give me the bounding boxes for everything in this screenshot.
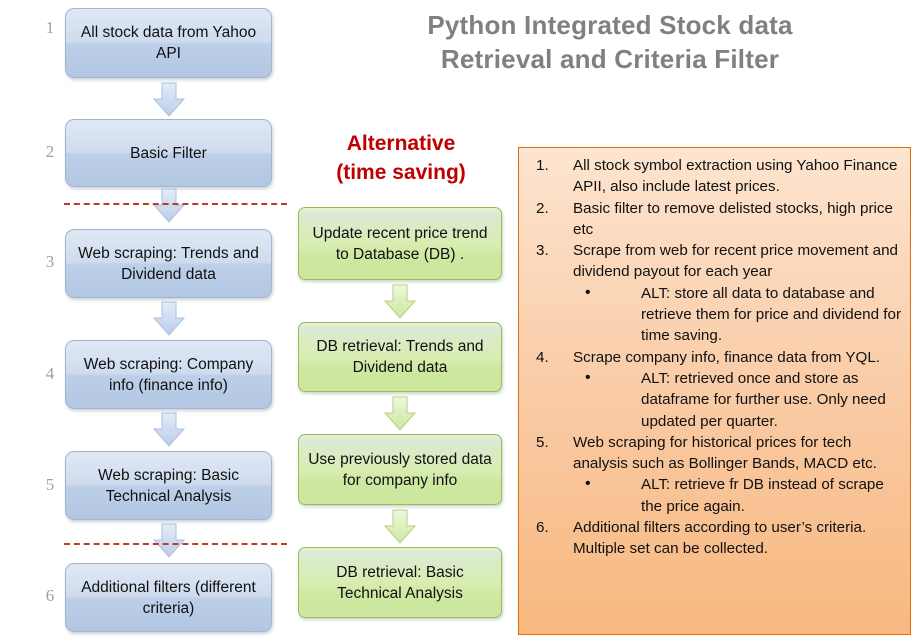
flow-box-label: Web scraping: Basic Technical Analysis: [72, 465, 265, 507]
down-arrow-icon: [383, 284, 417, 320]
note-sub-item: •ALT: retrieve fr DB instead of scrape t…: [573, 474, 902, 517]
note-item: 5.Web scraping for historical prices for…: [527, 432, 902, 517]
down-arrow-icon: [383, 396, 417, 432]
page-title-line-2: Retrieval and Criteria Filter: [330, 42, 890, 76]
alt-box-update-recent-price[interactable]: Update recent price trend to Database (D…: [298, 207, 502, 280]
note-item-number: 4.: [536, 347, 558, 368]
note-item-number: 5.: [536, 432, 558, 453]
flow-box-basic-filter[interactable]: Basic Filter: [65, 119, 272, 187]
notes-panel: 1.All stock symbol extraction using Yaho…: [518, 147, 911, 635]
alt-box-use-previously-stored-data[interactable]: Use previously stored data for company i…: [298, 434, 502, 505]
flow-box-label: Web scraping: Trends and Dividend data: [72, 243, 265, 285]
bullet-icon: •: [585, 282, 591, 303]
down-arrow-icon: [383, 509, 417, 545]
page-title-line-1: Python Integrated Stock data: [330, 8, 890, 42]
note-sub-item-text: ALT: retrieved once and store as datafra…: [641, 370, 886, 430]
flow-box-web-scraping-trends[interactable]: Web scraping: Trends and Dividend data: [65, 229, 272, 298]
bullet-icon: •: [585, 367, 591, 388]
bullet-icon: •: [585, 473, 591, 494]
note-item-text: All stock symbol extraction using Yahoo …: [573, 157, 897, 195]
down-arrow-icon: [152, 412, 186, 448]
down-arrow-icon: [152, 188, 186, 224]
flow-box-label: Basic Filter: [130, 143, 207, 164]
note-item: 3.Scrape from web for recent price movem…: [527, 240, 902, 346]
note-item: 1.All stock symbol extraction using Yaho…: [527, 155, 902, 198]
flow-box-label: Web scraping: Company info (finance info…: [72, 354, 265, 396]
note-item-text: Scrape from web for recent price movemen…: [573, 242, 898, 280]
note-item-text: Web scraping for historical prices for t…: [573, 434, 877, 472]
section-divider-top: [64, 203, 287, 205]
note-item: 4.Scrape company info, finance data from…: [527, 347, 902, 432]
flow-box-label: Additional filters (different criteria): [72, 577, 265, 619]
note-item-text: Basic filter to remove delisted stocks, …: [573, 200, 893, 238]
step-number-6: 6: [40, 586, 60, 606]
alt-box-label: Update recent price trend to Database (D…: [307, 223, 493, 265]
note-sub-item-text: ALT: retrieve fr DB instead of scrape th…: [641, 476, 884, 514]
note-item-number: 6.: [536, 517, 558, 538]
step-number-3: 3: [40, 252, 60, 272]
alternative-header: Alternative (time saving): [298, 129, 504, 187]
note-sub-list: •ALT: store all data to database and ret…: [573, 283, 902, 347]
alternative-header-line-1: Alternative: [298, 129, 504, 158]
note-sub-item-text: ALT: store all data to database and retr…: [641, 285, 901, 345]
note-sub-list: •ALT: retrieved once and store as datafr…: [573, 368, 902, 432]
flow-box-additional-filters[interactable]: Additional filters (different criteria): [65, 563, 272, 632]
step-number-4: 4: [40, 364, 60, 384]
down-arrow-icon: [152, 523, 186, 559]
down-arrow-icon: [152, 82, 186, 118]
note-item-number: 3.: [536, 240, 558, 261]
step-number-2: 2: [40, 142, 60, 162]
note-item-number: 2.: [536, 198, 558, 219]
down-arrow-icon: [152, 301, 186, 337]
note-sub-list: •ALT: retrieve fr DB instead of scrape t…: [573, 474, 902, 517]
flow-box-all-stock-data[interactable]: All stock data from Yahoo API: [65, 8, 272, 78]
note-item: 6.Additional filters according to user’s…: [527, 517, 902, 560]
alt-box-label: DB retrieval: Trends and Dividend data: [307, 336, 493, 378]
flow-box-label: All stock data from Yahoo API: [72, 22, 265, 64]
note-sub-item: •ALT: retrieved once and store as datafr…: [573, 368, 902, 432]
notes-list: 1.All stock symbol extraction using Yaho…: [527, 155, 902, 560]
flow-box-web-scraping-company-info[interactable]: Web scraping: Company info (finance info…: [65, 340, 272, 409]
alt-box-db-retrieval-technical-analysis[interactable]: DB retrieval: Basic Technical Analysis: [298, 547, 502, 618]
flow-box-web-scraping-technical-analysis[interactable]: Web scraping: Basic Technical Analysis: [65, 451, 272, 520]
step-number-1: 1: [40, 18, 60, 38]
section-divider-bottom: [64, 543, 287, 545]
page-title: Python Integrated Stock data Retrieval a…: [330, 8, 890, 76]
alt-box-db-retrieval-trends[interactable]: DB retrieval: Trends and Dividend data: [298, 322, 502, 392]
alt-box-label: DB retrieval: Basic Technical Analysis: [307, 562, 493, 604]
alternative-header-line-2: (time saving): [298, 158, 504, 187]
note-item-number: 1.: [536, 155, 558, 176]
note-item-text: Scrape company info, finance data from Y…: [573, 349, 880, 366]
step-number-5: 5: [40, 475, 60, 495]
alt-box-label: Use previously stored data for company i…: [307, 449, 493, 491]
note-item: 2.Basic filter to remove delisted stocks…: [527, 198, 902, 241]
note-sub-item: •ALT: store all data to database and ret…: [573, 283, 902, 347]
note-item-text: Additional filters according to user’s c…: [573, 519, 866, 557]
